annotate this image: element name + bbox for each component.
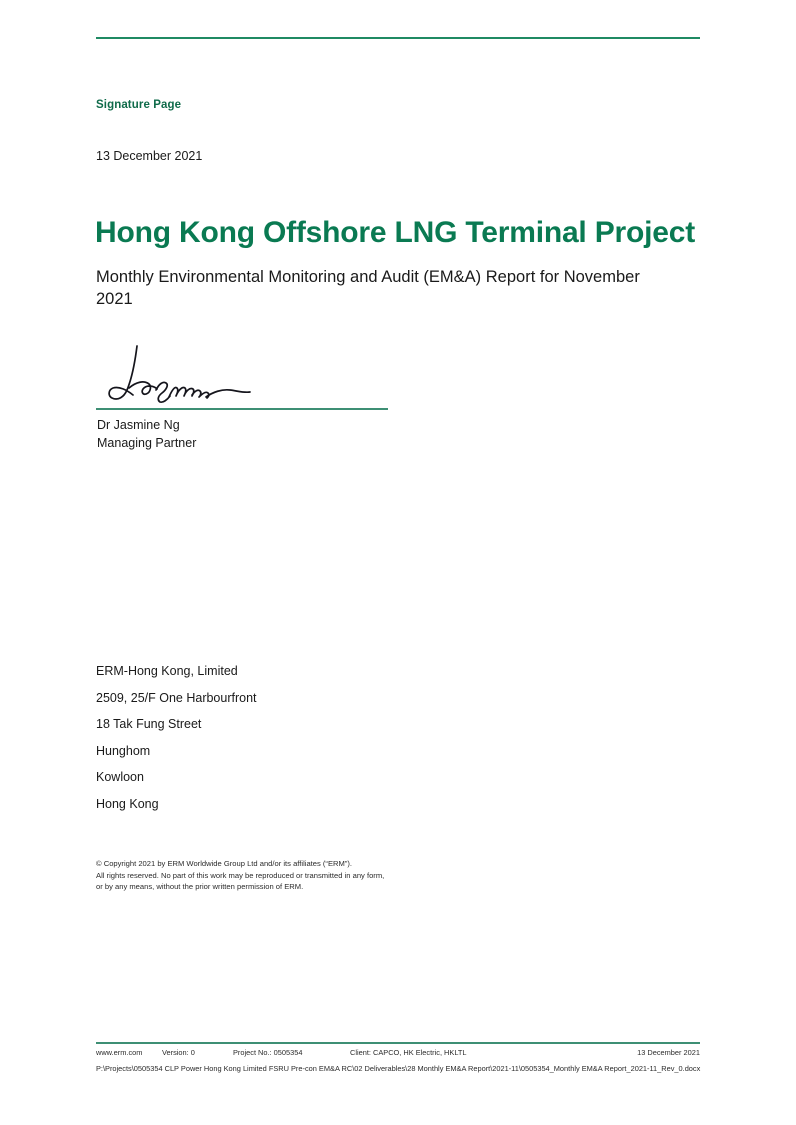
signer-role: Managing Partner (97, 436, 196, 450)
header-rule (96, 37, 700, 39)
copyright-line: All rights reserved. No part of this wor… (96, 870, 496, 882)
address-line: 18 Tak Fung Street (96, 717, 436, 731)
footer-file-path: P:\Projects\0505354 CLP Power Hong Kong … (96, 1063, 702, 1075)
document-date: 13 December 2021 (96, 149, 202, 163)
signature-image (96, 340, 396, 410)
address-line: ERM-Hong Kong, Limited (96, 664, 436, 678)
address-block: ERM-Hong Kong, Limited 2509, 25/F One Ha… (96, 664, 436, 823)
footer-client: Client: CAPCO, HK Electric, HKLTL (350, 1048, 467, 1057)
footer-rule (96, 1042, 700, 1044)
footer-meta: www.erm.com Version: 0 Project No.: 0505… (96, 1048, 700, 1060)
copyright-line: © Copyright 2021 by ERM Worldwide Group … (96, 858, 496, 870)
footer-version: Version: 0 (162, 1048, 195, 1057)
signature-rule (96, 408, 388, 410)
copyright-line: or by any means, without the prior writt… (96, 881, 496, 893)
section-label: Signature Page (96, 99, 181, 111)
document-page: Signature Page 13 December 2021 Hong Kon… (0, 0, 796, 1125)
page-title: Hong Kong Offshore LNG Terminal Project (95, 216, 695, 250)
copyright-notice: © Copyright 2021 by ERM Worldwide Group … (96, 858, 496, 893)
address-line: Hunghom (96, 744, 436, 758)
address-line: 2509, 25/F One Harbourfront (96, 691, 436, 705)
page-subtitle: Monthly Environmental Monitoring and Aud… (96, 266, 656, 310)
address-line: Kowloon (96, 770, 436, 784)
address-line: Hong Kong (96, 797, 436, 811)
footer-project-no: Project No.: 0505354 (233, 1048, 302, 1057)
footer-date: 13 December 2021 (637, 1048, 700, 1057)
footer-website[interactable]: www.erm.com (96, 1048, 142, 1057)
signer-name: Dr Jasmine Ng (97, 418, 180, 432)
